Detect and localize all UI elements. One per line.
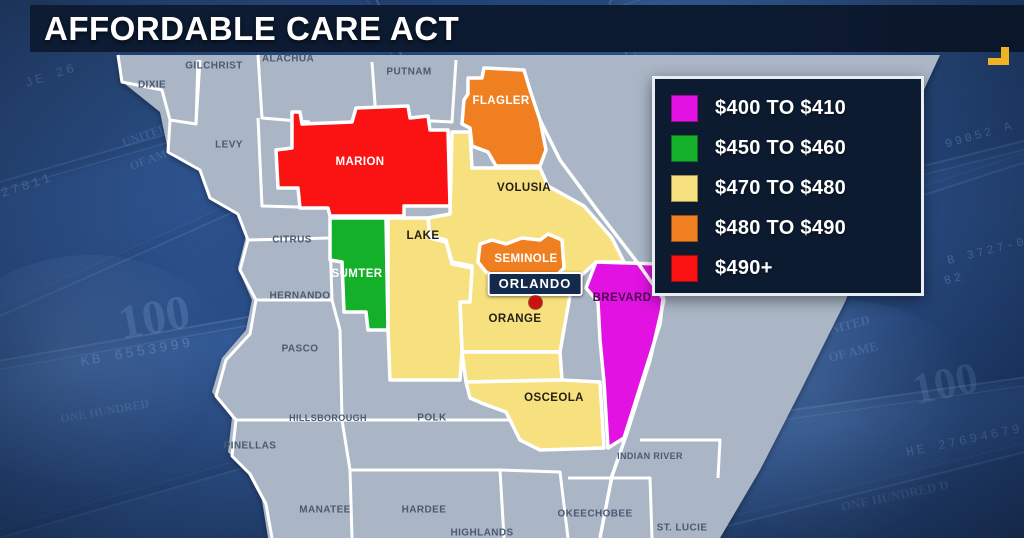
city-dot-icon	[529, 296, 542, 309]
legend-row: $400 TO $410	[655, 88, 921, 128]
city-marker-orlando[interactable]: ORLANDO	[488, 272, 583, 296]
title-bar: AFFORDABLE CARE ACT	[30, 5, 1024, 52]
legend-row: $470 TO $480	[655, 168, 921, 208]
page-title: AFFORDABLE CARE ACT	[30, 12, 459, 45]
map-legend: $400 TO $410$450 TO $460$470 TO $480$480…	[652, 76, 924, 296]
legend-label: $400 TO $410	[715, 97, 846, 120]
legend-color-swatch	[671, 215, 698, 242]
infographic-stage: JE 2627811KB 655399999052 AB 3727-01HE 2…	[0, 0, 1024, 538]
legend-label: $450 TO $460	[715, 137, 846, 160]
legend-label: $490+	[715, 257, 773, 280]
corner-bracket-icon	[988, 47, 1010, 66]
legend-row: $480 TO $490	[655, 208, 921, 248]
legend-row: $490+	[655, 248, 921, 288]
legend-label: $480 TO $490	[715, 217, 846, 240]
county-marion	[276, 106, 450, 216]
legend-row: $450 TO $460	[655, 128, 921, 168]
legend-color-swatch	[671, 135, 698, 162]
legend-color-swatch	[671, 175, 698, 202]
legend-label: $470 TO $480	[715, 177, 846, 200]
legend-color-swatch	[671, 255, 698, 282]
legend-color-swatch	[671, 95, 698, 122]
county-orange	[462, 352, 562, 382]
city-label: ORLANDO	[488, 272, 583, 296]
